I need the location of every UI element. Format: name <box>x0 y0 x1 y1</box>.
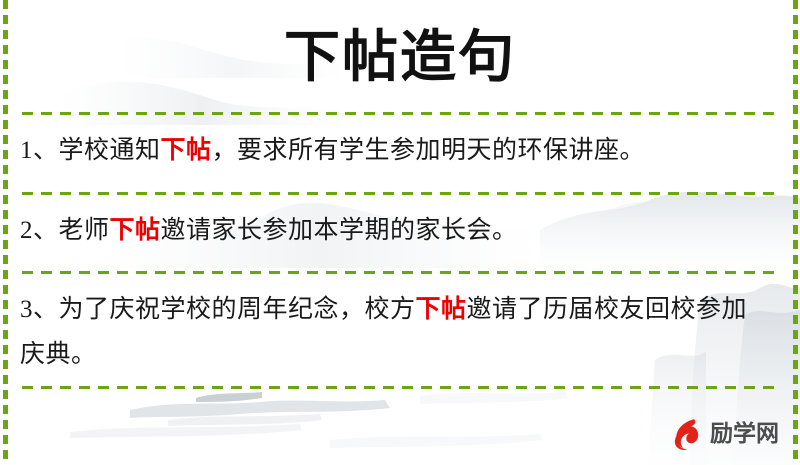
sentence-2-text-before: 老师 <box>59 217 110 244</box>
sentence-item-1: 1、学校通知下帖，要求所有学生参加明天的环保讲座。 <box>20 127 772 173</box>
divider-after-sentence-1 <box>22 192 775 195</box>
sentence-2-text-after: 邀请家长参加本学期的家长会。 <box>161 217 518 244</box>
sentence-item-3: 3、为了庆祝学校的周年纪念，校方下帖邀请了历届校友回校参加庆典。 <box>20 286 772 377</box>
site-logo-text: 励学网 <box>710 415 779 453</box>
sentence-worksheet-page: 下帖造句 1、学校通知下帖，要求所有学生参加明天的环保讲座。 2、老师下帖邀请家… <box>0 0 800 465</box>
page-frame-left-dashed-border <box>3 0 8 465</box>
sentence-item-2: 2、老师下帖邀请家长参加本学期的家长会。 <box>20 207 772 253</box>
divider-after-sentence-3 <box>22 386 775 389</box>
sentence-1-text-before: 学校通知 <box>59 137 161 164</box>
site-logo-watermark: 励学网 <box>668 410 788 458</box>
sentence-2-keyword: 下帖 <box>110 215 161 244</box>
sentence-1-text-after: ，要求所有学生参加明天的环保讲座。 <box>212 137 646 164</box>
sentence-3-keyword: 下帖 <box>416 294 467 323</box>
sentence-3-text-before: 为了庆祝学校的周年纪念，校方 <box>59 296 416 323</box>
sentence-2-number: 2、 <box>20 217 59 244</box>
sentence-1-keyword: 下帖 <box>161 135 212 164</box>
page-title: 下帖造句 <box>0 17 800 97</box>
divider-below-title <box>22 112 775 115</box>
page-frame-right-dashed-border <box>793 0 798 465</box>
sentence-1-number: 1、 <box>20 137 59 164</box>
sentence-3-number: 3、 <box>20 296 59 323</box>
flame-swirl-logo-icon <box>668 415 706 453</box>
divider-after-sentence-2 <box>22 271 775 274</box>
